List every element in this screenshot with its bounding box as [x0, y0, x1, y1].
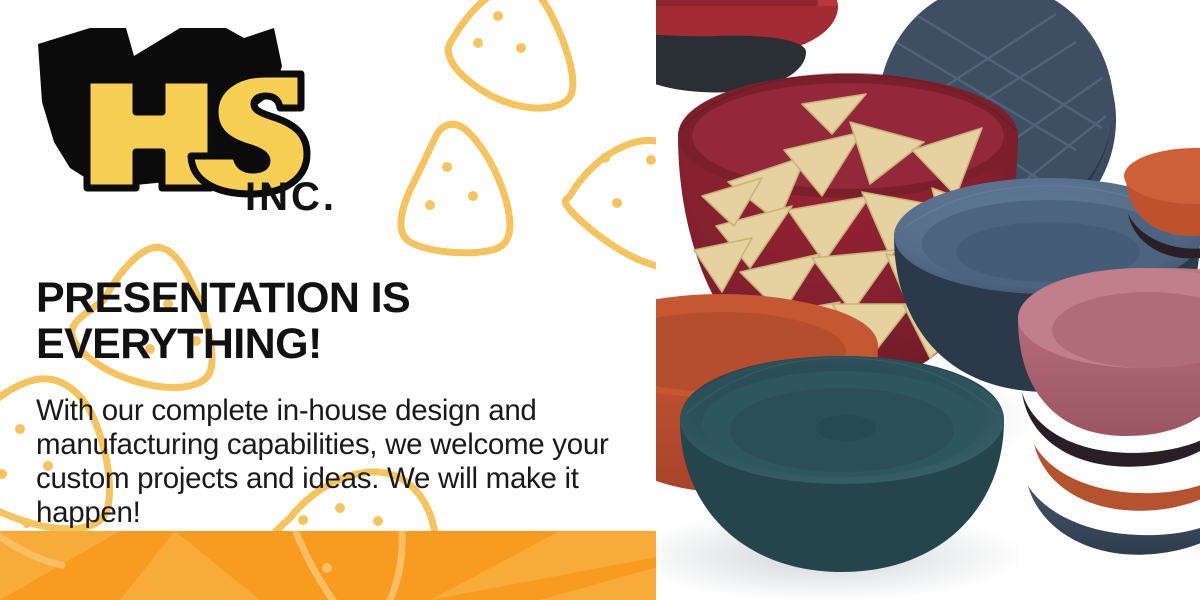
page-title: PRESENTATION IS EVERYTHING! [36, 275, 636, 367]
logo-inc-text: INC. [245, 175, 337, 219]
orange-footer-bar [0, 531, 657, 600]
left-content-panel: INC. PRESENTATION IS EVERYTHING! With ou… [0, 0, 660, 600]
body-paragraph: With our complete in-house design and ma… [36, 394, 641, 530]
product-photo [656, 0, 1200, 600]
headline-line-2: EVERYTHING! [36, 321, 636, 367]
headline-line-1: PRESENTATION IS [36, 274, 410, 322]
bowl-teal-foreground [656, 356, 1026, 600]
company-logo: INC. [30, 22, 370, 222]
marketing-banner: INC. PRESENTATION IS EVERYTHING! With ou… [0, 0, 1200, 600]
